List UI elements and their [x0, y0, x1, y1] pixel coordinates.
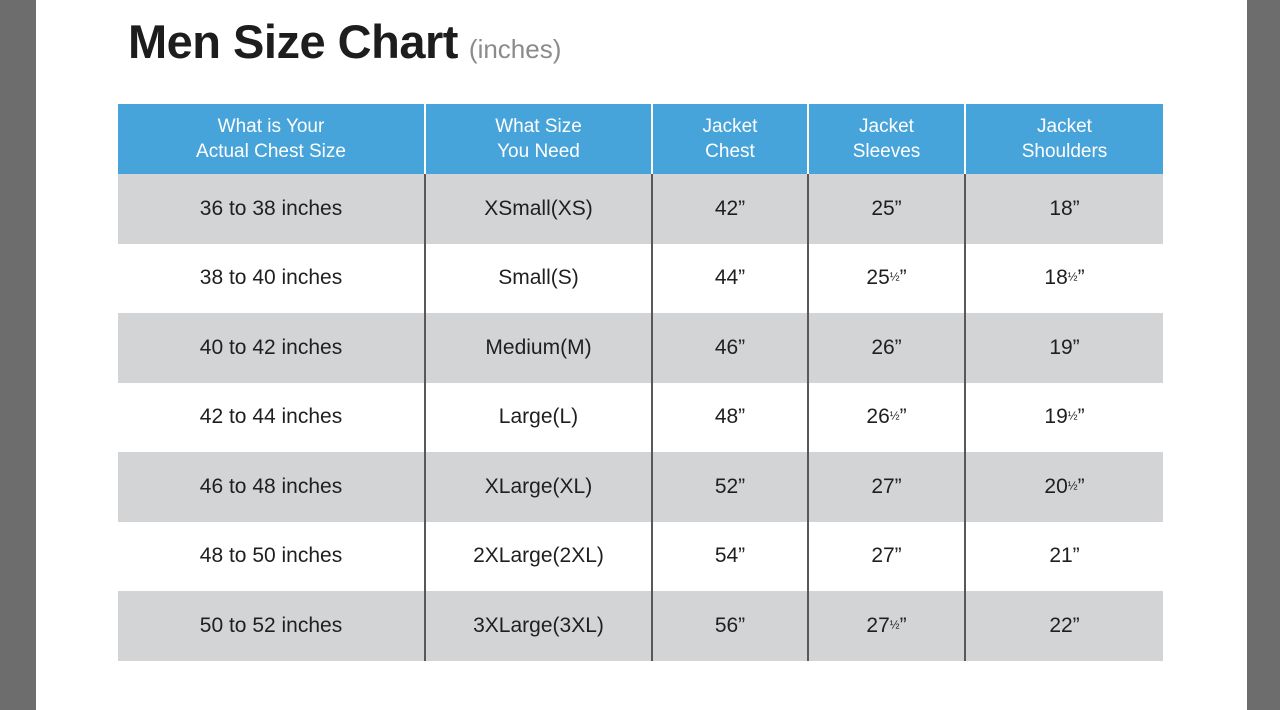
cell-actual-chest-size: 42 to 44 inches	[118, 383, 425, 453]
column-header-line2: Actual Chest Size	[122, 139, 420, 164]
column-header-line1: Jacket	[970, 114, 1159, 139]
column-header-jacket-shoulders: Jacket Shoulders	[965, 104, 1163, 174]
table-body: 36 to 38 inchesXSmall(XS)42”25”18”38 to …	[118, 174, 1163, 661]
cell-jacket-chest: 48”	[652, 383, 808, 453]
slide-page: Men Size Chart (inches) What is Your Act…	[36, 0, 1247, 710]
column-header-line2: Chest	[657, 139, 803, 164]
cell-size-you-need: XLarge(XL)	[425, 452, 652, 522]
size-chart-table: What is Your Actual Chest Size What Size…	[118, 104, 1163, 661]
cell-jacket-shoulders: 18½”	[965, 244, 1163, 314]
cell-actual-chest-size: 36 to 38 inches	[118, 174, 425, 244]
table-header: What is Your Actual Chest Size What Size…	[118, 104, 1163, 174]
column-header-line1: Jacket	[813, 114, 960, 139]
cell-jacket-sleeves: 27”	[808, 522, 965, 592]
cell-jacket-shoulders: 22”	[965, 591, 1163, 661]
cell-jacket-sleeves: 26½”	[808, 383, 965, 453]
cell-jacket-shoulders: 20½”	[965, 452, 1163, 522]
cell-jacket-shoulders: 19”	[965, 313, 1163, 383]
page-title-units: (inches)	[469, 36, 561, 62]
page-title-main: Men Size Chart	[128, 18, 458, 65]
column-header-line1: What is Your	[122, 114, 420, 139]
table-row: 36 to 38 inchesXSmall(XS)42”25”18”	[118, 174, 1163, 244]
cell-jacket-chest: 56”	[652, 591, 808, 661]
column-header-line1: Jacket	[657, 114, 803, 139]
cell-jacket-chest: 42”	[652, 174, 808, 244]
column-header-line2: Sleeves	[813, 139, 960, 164]
column-header-jacket-chest: Jacket Chest	[652, 104, 808, 174]
cell-jacket-sleeves: 26”	[808, 313, 965, 383]
cell-actual-chest-size: 38 to 40 inches	[118, 244, 425, 314]
cell-jacket-chest: 44”	[652, 244, 808, 314]
cell-jacket-sleeves: 25½”	[808, 244, 965, 314]
cell-size-you-need: Medium(M)	[425, 313, 652, 383]
column-header-line2: Shoulders	[970, 139, 1159, 164]
cell-jacket-chest: 52”	[652, 452, 808, 522]
table-header-row: What is Your Actual Chest Size What Size…	[118, 104, 1163, 174]
table-row: 50 to 52 inches3XLarge(3XL)56”27½”22”	[118, 591, 1163, 661]
cell-actual-chest-size: 40 to 42 inches	[118, 313, 425, 383]
right-frame-band	[1247, 0, 1280, 710]
column-header-line2: You Need	[430, 139, 647, 164]
table-row: 38 to 40 inchesSmall(S)44”25½”18½”	[118, 244, 1163, 314]
cell-size-you-need: 3XLarge(3XL)	[425, 591, 652, 661]
cell-jacket-sleeves: 25”	[808, 174, 965, 244]
table-row: 40 to 42 inchesMedium(M)46”26”19”	[118, 313, 1163, 383]
cell-jacket-chest: 54”	[652, 522, 808, 592]
cell-actual-chest-size: 46 to 48 inches	[118, 452, 425, 522]
screen-root: Men Size Chart (inches) What is Your Act…	[0, 0, 1280, 710]
cell-jacket-sleeves: 27½”	[808, 591, 965, 661]
cell-actual-chest-size: 50 to 52 inches	[118, 591, 425, 661]
table-row: 46 to 48 inchesXLarge(XL)52”27”20½”	[118, 452, 1163, 522]
table-row: 48 to 50 inches2XLarge(2XL)54”27”21”	[118, 522, 1163, 592]
column-header-size-you-need: What Size You Need	[425, 104, 652, 174]
table-row: 42 to 44 inchesLarge(L)48”26½”19½”	[118, 383, 1163, 453]
column-header-jacket-sleeves: Jacket Sleeves	[808, 104, 965, 174]
cell-jacket-chest: 46”	[652, 313, 808, 383]
cell-size-you-need: 2XLarge(2XL)	[425, 522, 652, 592]
cell-jacket-shoulders: 19½”	[965, 383, 1163, 453]
left-frame-band	[0, 0, 36, 710]
cell-jacket-shoulders: 21”	[965, 522, 1163, 592]
page-title: Men Size Chart (inches)	[128, 18, 561, 65]
cell-size-you-need: Small(S)	[425, 244, 652, 314]
column-header-actual-chest-size: What is Your Actual Chest Size	[118, 104, 425, 174]
cell-actual-chest-size: 48 to 50 inches	[118, 522, 425, 592]
cell-jacket-sleeves: 27”	[808, 452, 965, 522]
cell-jacket-shoulders: 18”	[965, 174, 1163, 244]
column-header-line1: What Size	[430, 114, 647, 139]
cell-size-you-need: Large(L)	[425, 383, 652, 453]
cell-size-you-need: XSmall(XS)	[425, 174, 652, 244]
